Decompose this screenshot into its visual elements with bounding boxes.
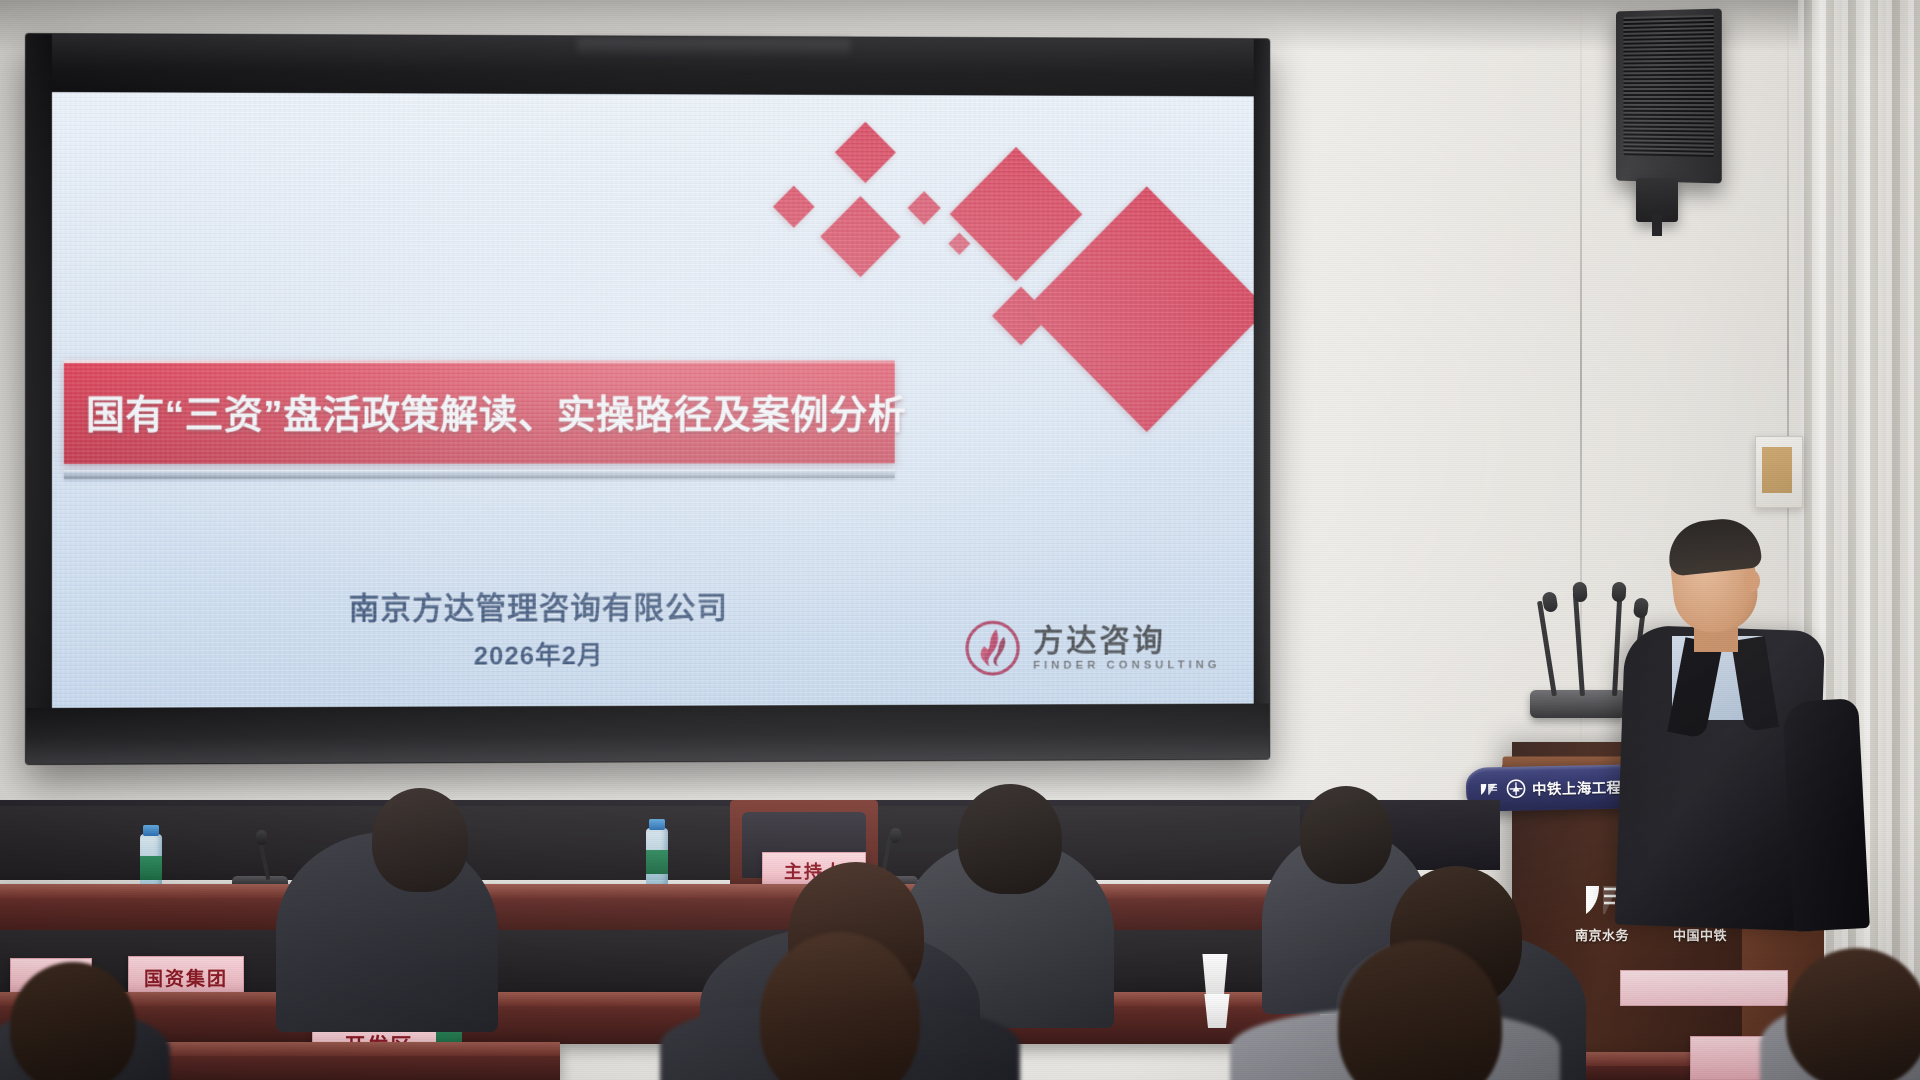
photo-vignette xyxy=(0,0,1920,1080)
conference-room-photo: 国有“三资”盘活政策解读、实操路径及案例分析 南京方达管理咨询有限公司 2026… xyxy=(0,0,1920,1080)
